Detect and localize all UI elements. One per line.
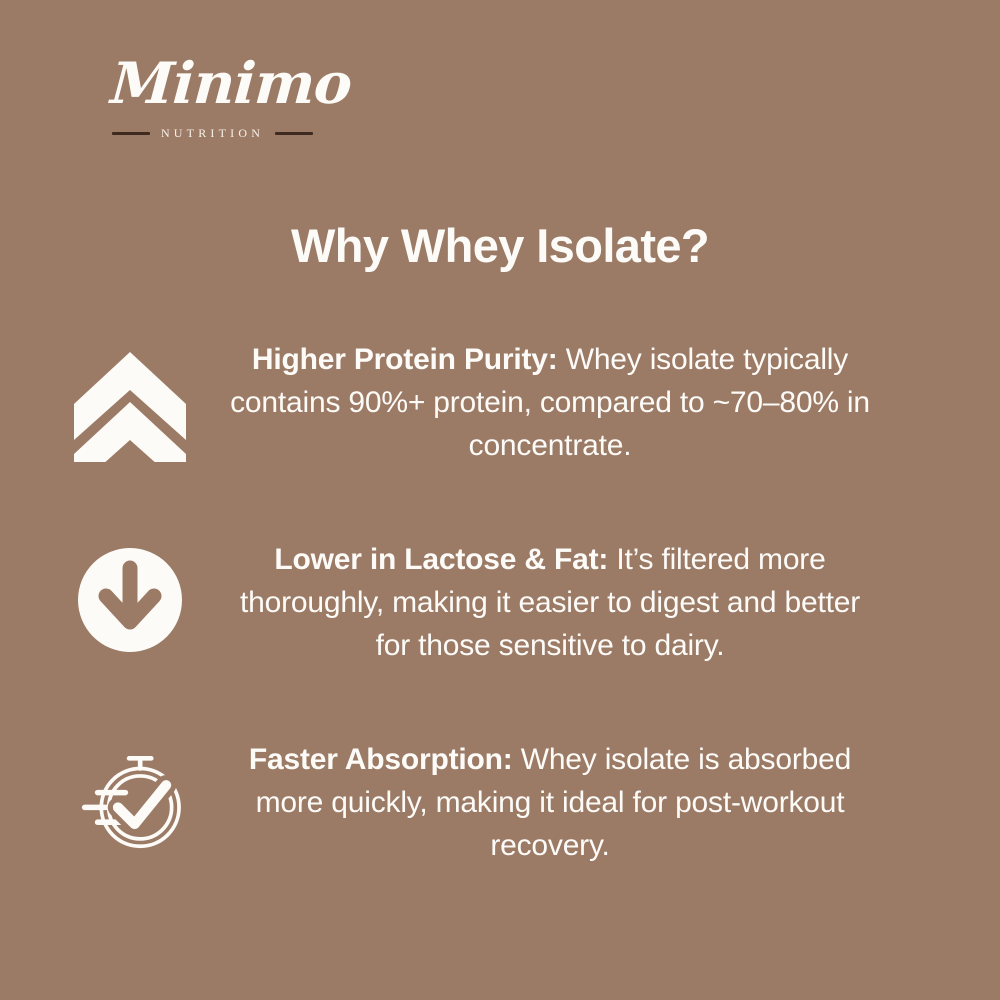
benefit-label: Faster Absorption:: [249, 743, 513, 776]
brand-logo: Minimo NUTRITION: [105, 55, 320, 141]
brand-name: Minimo: [109, 55, 322, 112]
brand-tagline: NUTRITION: [161, 126, 264, 141]
benefit-text: Higher Protein Purity: Whey isolate typi…: [220, 338, 880, 467]
benefits-list: Higher Protein Purity: Whey isolate typi…: [0, 330, 1000, 930]
arrow-down-circle-icon: [68, 538, 192, 662]
benefit-label: Lower in Lactose & Fat:: [274, 543, 608, 576]
benefit-label: Higher Protein Purity:: [252, 343, 558, 376]
list-item: Lower in Lactose & Fat: It’s filtered mo…: [0, 530, 1000, 730]
benefit-text: Lower in Lactose & Fat: It’s filtered mo…: [220, 538, 880, 667]
list-item: Faster Absorption: Whey isolate is absor…: [0, 730, 1000, 930]
benefit-text: Faster Absorption: Whey isolate is absor…: [220, 738, 880, 867]
double-chevron-up-icon: [68, 338, 192, 462]
page-title: Why Whey Isolate?: [0, 218, 1000, 273]
rule-left: [112, 132, 150, 135]
brand-tagline-row: NUTRITION: [105, 126, 320, 141]
list-item: Higher Protein Purity: Whey isolate typi…: [0, 330, 1000, 530]
poster-canvas: Minimo NUTRITION Why Whey Isolate? Highe…: [0, 0, 1000, 1000]
rule-right: [275, 132, 313, 135]
stopwatch-check-icon: [68, 738, 192, 862]
